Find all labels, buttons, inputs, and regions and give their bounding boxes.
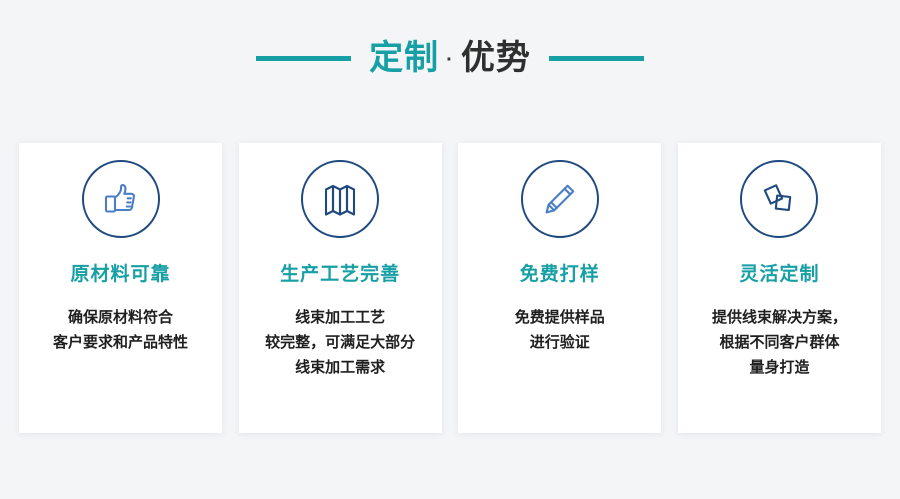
description-line: 线束加工工艺 bbox=[248, 305, 433, 330]
feature-card-description: 提供线束解决方案， 根据不同客户群体 量身打造 bbox=[687, 305, 872, 380]
feature-card-production-process[interactable]: 生产工艺完善 线束加工工艺 较完整，可满足大部分 线束加工需求 bbox=[239, 143, 442, 433]
description-line: 量身打造 bbox=[687, 355, 872, 380]
page-title-separator: · bbox=[439, 50, 461, 70]
feature-cards-row: 原材料可靠 确保原材料符合 客户要求和产品特性 生产工艺完善 线束加工工艺 较完… bbox=[19, 143, 881, 433]
page-title-main: 优势 bbox=[461, 41, 531, 75]
feature-card-title: 免费打样 bbox=[520, 264, 600, 287]
folded-map-icon bbox=[301, 160, 379, 238]
description-line: 免费提供样品 bbox=[467, 305, 652, 330]
description-line: 确保原材料符合 bbox=[28, 305, 213, 330]
description-line: 进行验证 bbox=[467, 330, 652, 355]
feature-card-description: 确保原材料符合 客户要求和产品特性 bbox=[28, 305, 213, 355]
page-title-accent: 定制 bbox=[369, 41, 439, 75]
feature-card-description: 线束加工工艺 较完整，可满足大部分 线束加工需求 bbox=[248, 305, 433, 380]
section-heading: 定制 · 优势 bbox=[0, 30, 900, 86]
description-line: 客户要求和产品特性 bbox=[28, 330, 213, 355]
stacked-cards-icon bbox=[740, 160, 818, 238]
feature-card-description: 免费提供样品 进行验证 bbox=[467, 305, 652, 355]
feature-card-flexible-customization[interactable]: 灵活定制 提供线束解决方案， 根据不同客户群体 量身打造 bbox=[678, 143, 881, 433]
feature-card-title: 生产工艺完善 bbox=[280, 264, 400, 287]
thumbs-up-icon bbox=[82, 160, 160, 238]
description-line: 提供线束解决方案， bbox=[687, 305, 872, 330]
heading-rule-left bbox=[256, 56, 351, 61]
page-title: 定制 · 优势 bbox=[369, 41, 531, 75]
description-line: 根据不同客户群体 bbox=[687, 330, 872, 355]
description-line: 线束加工需求 bbox=[248, 355, 433, 380]
feature-card-free-sample[interactable]: 免费打样 免费提供样品 进行验证 bbox=[458, 143, 661, 433]
description-line: 较完整，可满足大部分 bbox=[248, 330, 433, 355]
heading-rule-right bbox=[549, 56, 644, 61]
feature-card-raw-material[interactable]: 原材料可靠 确保原材料符合 客户要求和产品特性 bbox=[19, 143, 222, 433]
feature-card-title: 原材料可靠 bbox=[70, 264, 170, 287]
feature-card-title: 灵活定制 bbox=[739, 264, 819, 287]
pencil-icon bbox=[521, 160, 599, 238]
